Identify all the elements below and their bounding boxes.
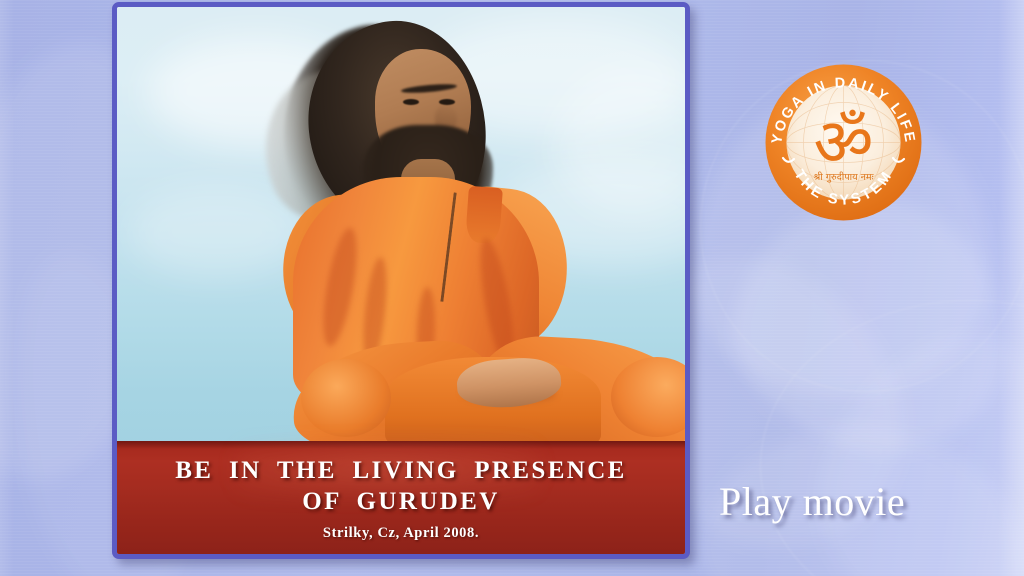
yoga-in-daily-life-logo: ॐ श्री गुरुदीपाय नमः YOGA IN DAILY LIFE … — [763, 62, 924, 223]
caption-line-2: OF GURUDEV — [117, 486, 685, 517]
svg-text:ॐ: ॐ — [814, 107, 874, 180]
caption-line-1: BE IN THE LIVING PRESENCE — [117, 455, 685, 486]
eye — [403, 99, 419, 105]
left-edge-highlight — [0, 0, 14, 576]
sanskrit-text: श्री गुरुदीपाय नमः — [814, 171, 875, 183]
right-edge-highlight — [998, 0, 1024, 576]
photo-caption: BE IN THE LIVING PRESENCE OF GURUDEV Str… — [117, 455, 685, 542]
gurudev-photo-panel: BE IN THE LIVING PRESENCE OF GURUDEV Str… — [112, 2, 690, 559]
gurudev-photo: BE IN THE LIVING PRESENCE OF GURUDEV Str… — [117, 7, 685, 554]
play-movie-button[interactable]: Play movie — [719, 478, 905, 525]
dvd-menu-screen: BE IN THE LIVING PRESENCE OF GURUDEV Str… — [0, 0, 1024, 576]
caption-line-3: Strilky, Cz, April 2008. — [117, 525, 685, 542]
knee — [301, 359, 391, 437]
